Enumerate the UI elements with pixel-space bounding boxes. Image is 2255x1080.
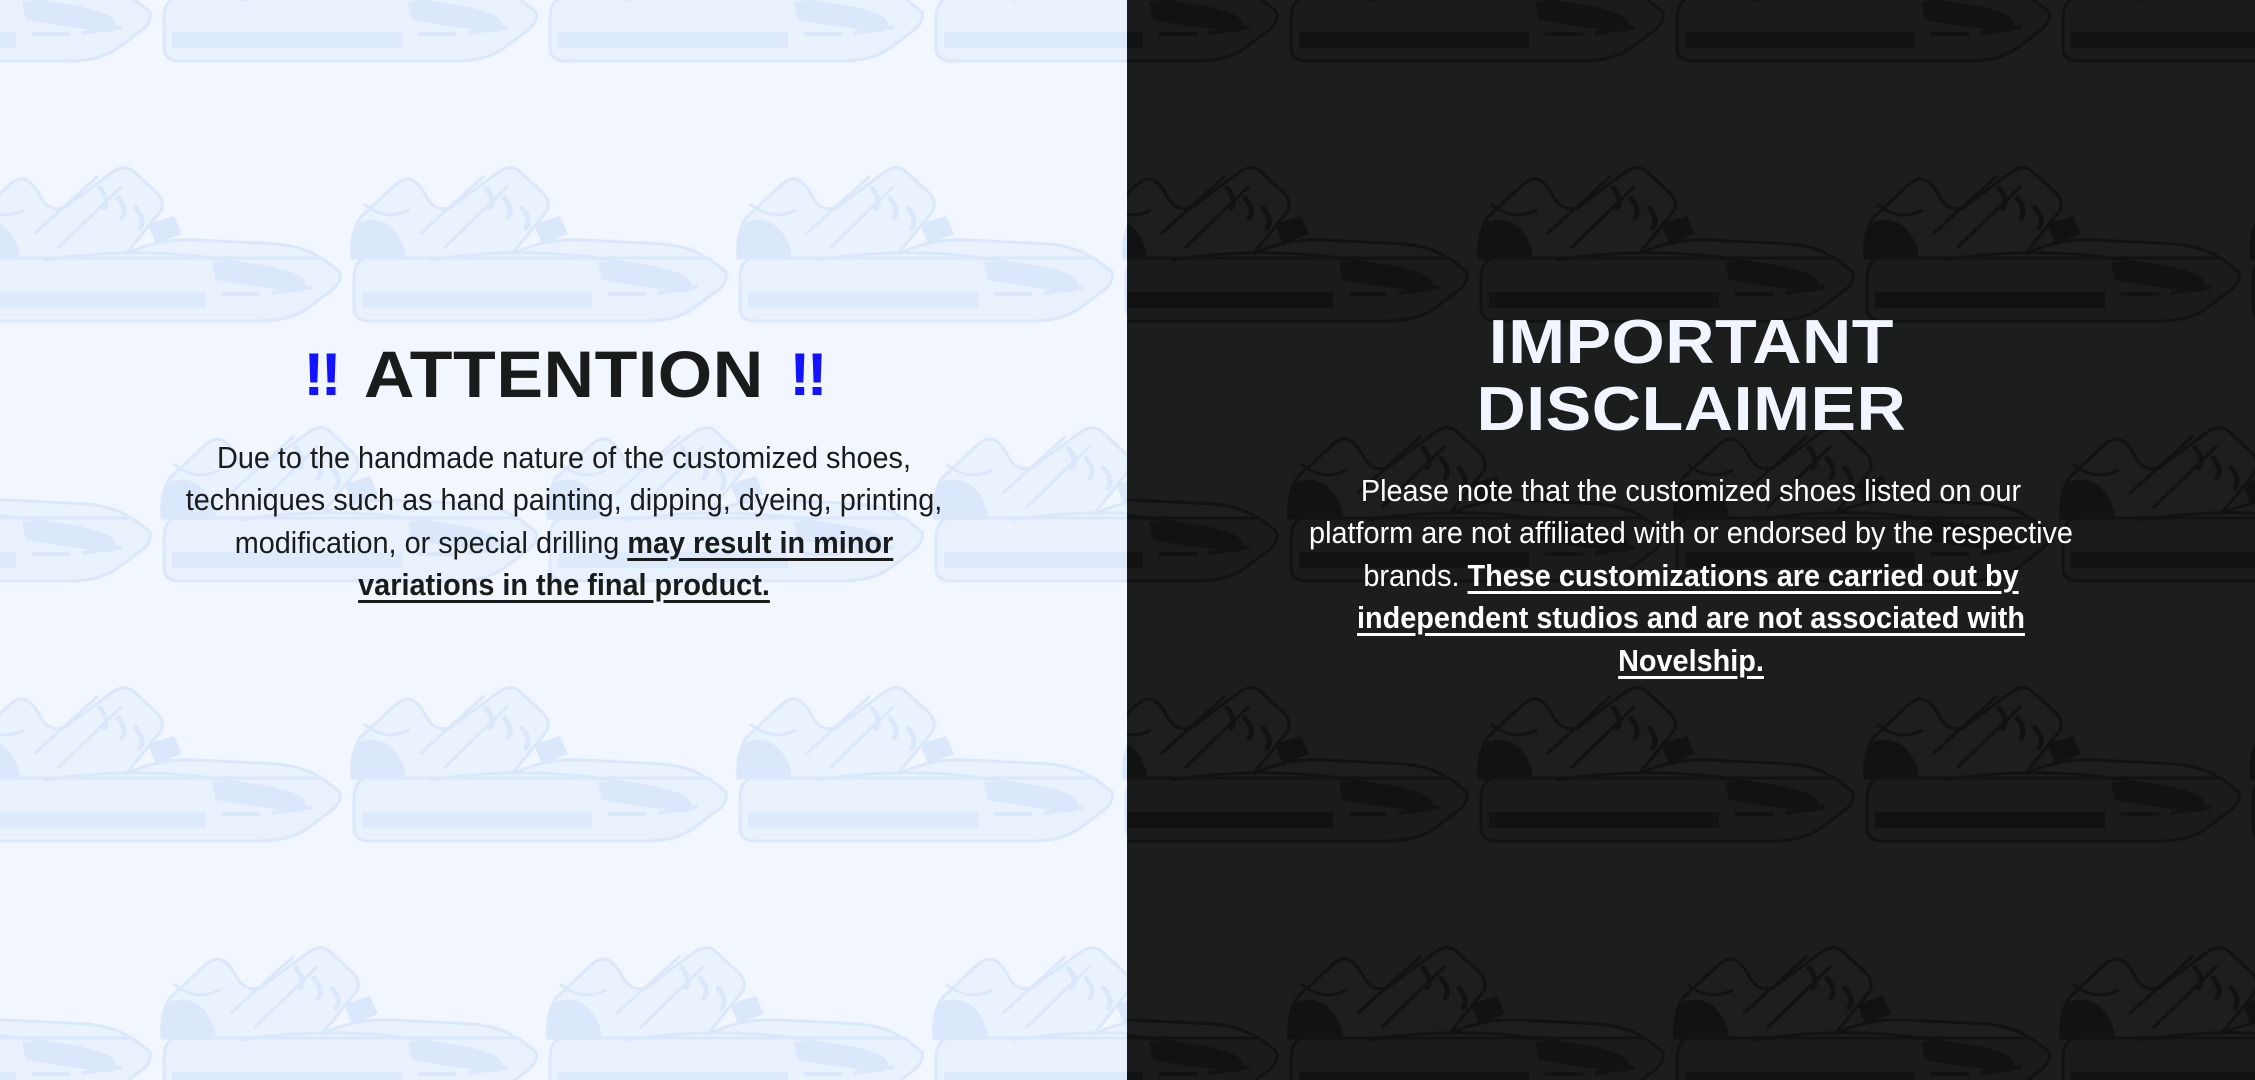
disclaimer-heading: IMPORTANT DISCLAIMER [1476, 310, 1906, 444]
double-exclamation-icon-right: ‼ [789, 345, 824, 405]
disclaimer-heading-line2: DISCLAIMER [1476, 377, 1906, 444]
attention-panel: ‼ATTENTION‼ Due to the handmade nature o… [0, 0, 1127, 1080]
attention-heading: ‼ATTENTION‼ [303, 341, 824, 407]
disclaimer-content: IMPORTANT DISCLAIMER Please note that th… [1127, 0, 2255, 1080]
disclaimer-panel: IMPORTANT DISCLAIMER Please note that th… [1127, 0, 2255, 1080]
disclaimer-body: Please note that the customized shoes li… [1305, 470, 2077, 682]
attention-content: ‼ATTENTION‼ Due to the handmade nature o… [0, 0, 1127, 1080]
double-exclamation-icon-left: ‼ [303, 345, 338, 405]
attention-body: Due to the handmade nature of the custom… [178, 437, 950, 607]
disclaimer-heading-line1: IMPORTANT [1476, 310, 1906, 377]
attention-heading-word: ATTENTION [364, 341, 764, 407]
dual-panel-banner: ‼ATTENTION‼ Due to the handmade nature o… [0, 0, 2255, 1080]
